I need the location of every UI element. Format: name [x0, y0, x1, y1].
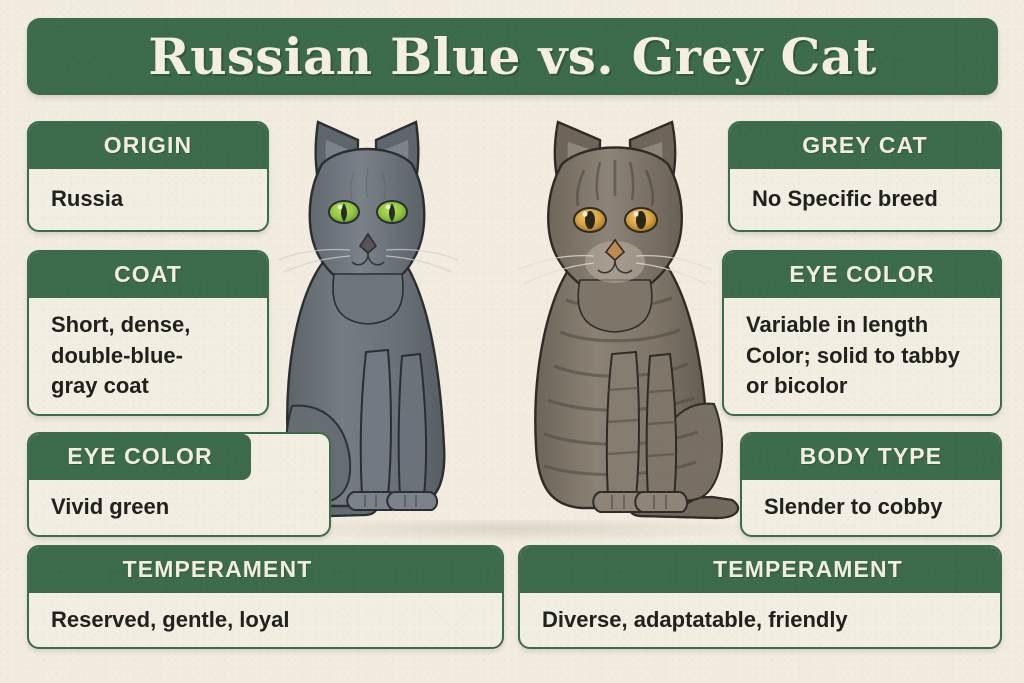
neck — [333, 274, 403, 324]
paw-right — [635, 492, 687, 512]
card-grey-cat-body: No Specific breed — [730, 169, 1000, 230]
paw-right — [387, 492, 437, 510]
infographic-canvas: Russian Blue vs. Grey Cat — [0, 0, 1024, 683]
card-eye-color-right: EYE COLOR Variable in length Color; soli… — [722, 250, 1002, 416]
card-temperament-left-header: TEMPERAMENT — [29, 547, 502, 593]
card-body-type-body: Slender to cobby — [742, 480, 1000, 535]
page-title: Russian Blue vs. Grey Cat — [148, 27, 876, 86]
grey-tabby-cat-illustration — [500, 104, 750, 536]
card-coat-header: COAT — [29, 252, 267, 298]
eye-highlight-right — [386, 205, 391, 210]
card-eye-color-right-line-3: or bicolor — [746, 371, 982, 401]
card-grey-cat: GREY CAT No Specific breed — [728, 121, 1002, 232]
card-coat-line-3: gray coat — [51, 371, 249, 401]
card-temperament-left-body: Reserved, gentle, loyal — [29, 593, 502, 647]
card-eye-color-right-line-1: Variable in length — [746, 310, 982, 340]
page-title-banner: Russian Blue vs. Grey Cat — [27, 18, 998, 95]
eye-highlight-right — [633, 211, 638, 216]
neck — [578, 280, 652, 332]
card-origin: ORIGIN Russia — [27, 121, 269, 232]
front-leg-right — [399, 354, 426, 496]
card-origin-header: ORIGIN — [29, 123, 267, 169]
front-leg-right — [647, 354, 676, 498]
eye-highlight-left — [582, 211, 587, 216]
card-temperament-right: TEMPERAMENT Diverse, adaptatable, friend… — [518, 545, 1002, 649]
card-eye-color-left-header: EYE COLOR — [29, 434, 251, 480]
card-coat-body: Short, dense, double-blue- gray coat — [29, 298, 267, 414]
card-temperament-right-body: Diverse, adaptatable, friendly — [520, 593, 1000, 647]
card-coat: COAT Short, dense, double-blue- gray coa… — [27, 250, 269, 416]
card-eye-color-right-header: EYE COLOR — [724, 252, 1000, 298]
card-origin-body: Russia — [29, 169, 267, 230]
card-grey-cat-header: GREY CAT — [730, 123, 1000, 169]
card-body-type: BODY TYPE Slender to cobby — [740, 432, 1002, 537]
card-eye-color-left: EYE COLOR Vivid green — [27, 432, 331, 537]
front-leg-left — [361, 350, 391, 496]
card-eye-color-left-body: Vivid green — [29, 480, 329, 535]
card-temperament-left: TEMPERAMENT Reserved, gentle, loyal — [27, 545, 504, 649]
front-leg-left — [607, 352, 639, 498]
card-body-type-header: BODY TYPE — [742, 434, 1000, 480]
eye-highlight-left — [338, 205, 343, 210]
card-eye-color-right-body: Variable in length Color; solid to tabby… — [724, 298, 1000, 414]
card-temperament-right-header: TEMPERAMENT — [520, 547, 1000, 593]
card-coat-line-1: Short, dense, — [51, 310, 249, 340]
card-coat-line-2: double-blue- — [51, 341, 249, 371]
card-eye-color-right-line-2: Color; solid to tabby — [746, 341, 982, 371]
